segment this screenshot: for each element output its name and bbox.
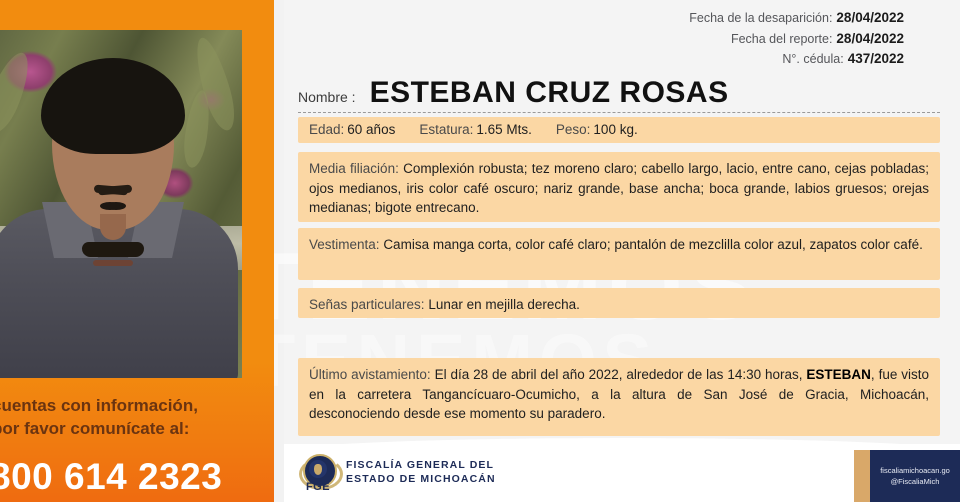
document-sheet: TENEMOS TENEMOS Fecha de la desaparición…: [284, 0, 960, 502]
social-twitter-handle: @FiscaliaMich: [880, 476, 950, 487]
fge-badge-label: FGE: [298, 481, 338, 493]
senas-label: Señas particulares:: [309, 297, 425, 312]
photo-nose: [100, 214, 126, 240]
meta-row-disappearance: Fecha de la desaparición:28/04/2022: [689, 8, 904, 29]
photo-moustache: [82, 242, 144, 257]
cedula-value: 437/2022: [848, 51, 904, 66]
filiacion-label: Media filiación:: [309, 161, 399, 176]
document-meta: Fecha de la desaparición:28/04/2022 Fech…: [689, 8, 904, 70]
cedula-label: N°. cédula:: [782, 52, 843, 66]
edad-value: 60 años: [347, 122, 395, 137]
peso-label: Peso:: [556, 122, 591, 137]
fecha-desaparicion-value: 28/04/2022: [836, 10, 904, 25]
fge-shield-icon: FGE: [298, 452, 338, 492]
vestimenta-text: Camisa manga corta, color café claro; pa…: [383, 237, 923, 252]
estatura-value: 1.65 Mts.: [476, 122, 532, 137]
cta-line-1: cuentas con información,: [0, 395, 264, 417]
left-orange-panel: cuentas con información, por favor comun…: [0, 0, 274, 502]
agency-branding: FGE FISCALÍA GENERAL DEL ESTADO DE MICHO…: [298, 452, 496, 492]
peso-value: 100 kg.: [593, 122, 637, 137]
last-sighting-block: Último avistamiento: El día 28 de abril …: [298, 358, 940, 436]
edad-label: Edad:: [309, 122, 344, 137]
agency-name: FISCALÍA GENERAL DEL ESTADO DE MICHOACÁN: [346, 458, 496, 486]
fge-eagle-icon: [314, 464, 322, 475]
ultimo-label: Último avistamiento:: [309, 367, 431, 382]
right-content-panel: TENEMOS TENEMOS Fecha de la desaparición…: [274, 0, 960, 502]
social-handles: fiscaliamichoacan.go @FiscaliaMich: [880, 465, 950, 488]
name-underline-rule: [298, 112, 940, 113]
meta-row-report: Fecha del reporte:28/04/2022: [689, 29, 904, 50]
physical-stats-block: Edad:60 añosEstatura:1.65 Mts.Peso:100 k…: [298, 117, 940, 143]
person-photo: [0, 30, 242, 378]
photo-eye-right: [100, 202, 120, 210]
nombre-label: Nombre :: [298, 89, 356, 105]
distinguishing-marks-block: Señas particulares: Lunar en mejilla der…: [298, 288, 940, 318]
ultimo-person-name: ESTEBAN: [806, 367, 871, 382]
filiacion-text: Complexión robusta; tez moreno claro; ca…: [309, 161, 929, 215]
photo-mouth: [93, 260, 133, 266]
cta-line-2: por favor comunícate al:: [0, 418, 264, 440]
document-footer: FGE FISCALÍA GENERAL DEL ESTADO DE MICHO…: [284, 444, 960, 502]
fecha-reporte-label: Fecha del reporte:: [731, 32, 832, 46]
vestimenta-label: Vestimenta:: [309, 237, 380, 252]
meta-row-cedula: N°. cédula:437/2022: [689, 49, 904, 70]
social-media-block: fiscaliamichoacan.go @FiscaliaMich: [870, 450, 960, 502]
ultimo-text-pre: El día 28 de abril del año 2022, alreded…: [435, 367, 807, 382]
nombre-value: ESTEBAN CRUZ ROSAS: [370, 76, 729, 110]
person-name-row: Nombre : ESTEBAN CRUZ ROSAS: [298, 76, 936, 110]
person-photo-frame: [0, 30, 242, 378]
agency-name-line-1: FISCALÍA GENERAL DEL: [346, 458, 496, 472]
social-tan-stripe: [854, 450, 870, 502]
agency-name-line-2: ESTADO DE MICHOACÁN: [346, 472, 496, 486]
physical-description-block: Media filiación: Complexión robusta; tez…: [298, 152, 940, 222]
fecha-desaparicion-label: Fecha de la desaparición:: [689, 11, 832, 25]
missing-person-poster: cuentas con información, por favor comun…: [0, 0, 960, 502]
hotline-phone-number: 800 614 2323: [0, 456, 222, 498]
fecha-reporte-value: 28/04/2022: [836, 31, 904, 46]
estatura-label: Estatura:: [419, 122, 473, 137]
senas-text: Lunar en mejilla derecha.: [428, 297, 580, 312]
hotline-call-to-action: cuentas con información, por favor comun…: [0, 395, 274, 440]
clothing-description-block: Vestimenta: Camisa manga corta, color ca…: [298, 228, 940, 280]
social-website: fiscaliamichoacan.go: [880, 465, 950, 476]
